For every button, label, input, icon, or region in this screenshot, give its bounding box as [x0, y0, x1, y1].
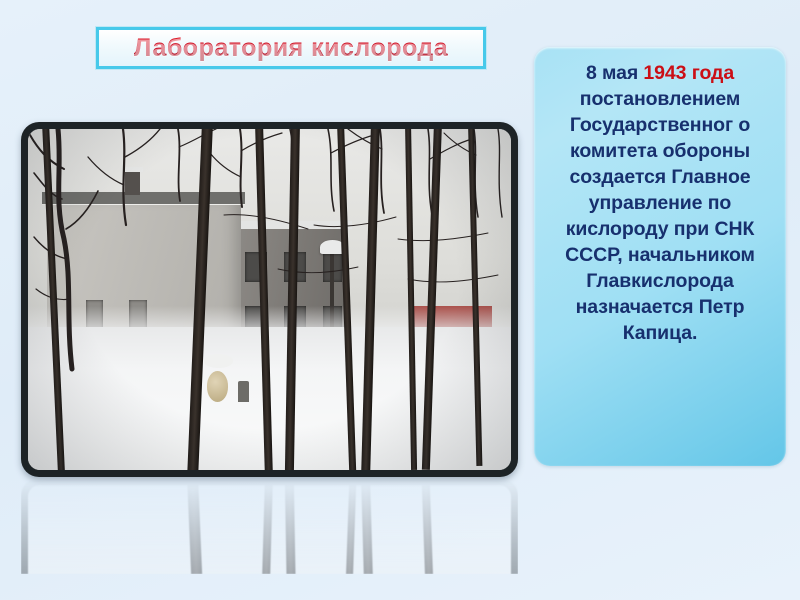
slide: Лаборатория кислорода [0, 0, 800, 600]
photo-reflection-image [28, 485, 511, 574]
photo-reflection-frame [21, 478, 518, 574]
photo-image [28, 129, 511, 470]
photo-reflection-inner [21, 478, 518, 574]
photo-vignette [28, 129, 511, 470]
slide-title-box: Лаборатория кислорода [96, 27, 486, 69]
info-text-panel: 8 мая 1943 года постановлением Государст… [534, 47, 786, 466]
info-text: 8 мая 1943 года постановлением Государст… [548, 60, 772, 346]
info-text-highlight-year: 1943 года [643, 62, 734, 84]
info-text-body: постановлением Государственног о комитет… [565, 88, 755, 344]
photo-frame [21, 122, 518, 477]
photo-container [21, 122, 518, 477]
photo-reflection [21, 478, 518, 574]
info-text-prefix: 8 мая [586, 62, 643, 84]
page-title: Лаборатория кислорода [134, 34, 448, 63]
